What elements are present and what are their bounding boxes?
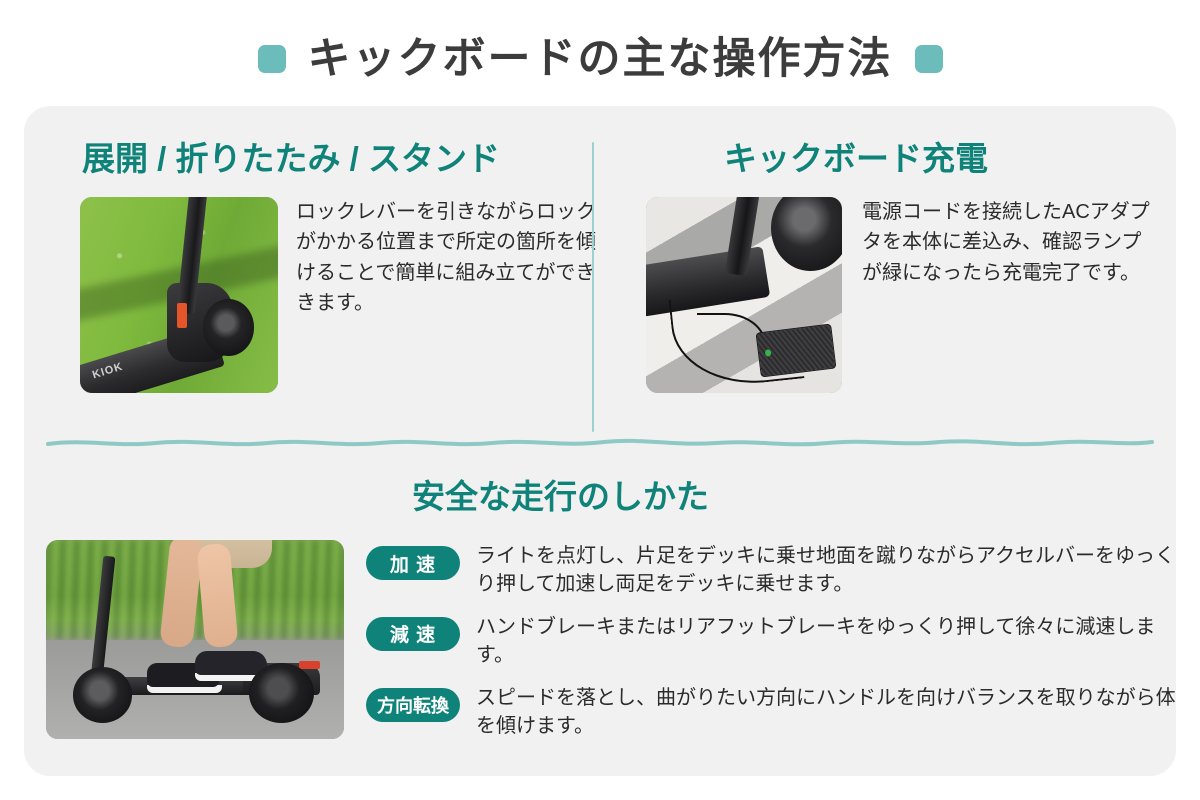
content-card: 展開 / 折りたたみ / スタンド KIOK ロックレバーを引きながらロックがか…: [24, 106, 1176, 776]
section-fold: 展開 / 折りたたみ / スタンド KIOK ロックレバーを引きながらロックがか…: [56, 106, 596, 393]
vertical-divider: [592, 142, 594, 432]
rider-shoe-front: [195, 651, 267, 675]
page-title-row: キックボードの主な操作方法: [0, 26, 1200, 92]
scooter-riding-photo: [46, 540, 344, 739]
status-badge-accelerate: 加 速: [366, 546, 460, 580]
safety-step-text-accelerate: ライトを点灯し、片足をデッキに乗せ地面を蹴りながらアクセルバーをゆっくり押して加…: [476, 542, 1176, 599]
lock-lever-icon: [177, 303, 187, 328]
section-safety-body: 加 速 ライトを点灯し、片足をデッキに乗せ地面を蹴りながらアクセルバーをゆっくり…: [46, 540, 1176, 740]
status-badge-decelerate: 減 速: [366, 617, 460, 651]
scooter-rear-wheel: [249, 663, 315, 723]
safety-step-text-turning: スピードを落とし、曲がりたい方向にハンドルを向けバランスを取りながら体を傾けます…: [476, 684, 1176, 741]
square-decoration-left-icon: [258, 45, 286, 73]
charge-lamp-icon: [764, 350, 771, 358]
top-section: 展開 / 折りたたみ / スタンド KIOK ロックレバーを引きながらロックがか…: [24, 106, 1176, 436]
section-safety: 安全な走行のしかた: [24, 450, 1176, 776]
scooter-charging-photo: [646, 197, 842, 393]
section-safety-heading: 安全な走行のしかた: [412, 480, 709, 513]
section-charge-heading: キックボード充電: [724, 142, 1154, 175]
section-fold-text: ロックレバーを引きながらロックがかかる位置まで所定の箇所を傾けることで簡単に組み…: [296, 197, 596, 319]
safety-step-list: 加 速 ライトを点灯し、片足をデッキに乗せ地面を蹴りながらアクセルバーをゆっくり…: [366, 540, 1176, 740]
section-charge-body: 電源コードを接続したACアダプタを本体に差込み、確認ランプが緑になったら充電完了…: [646, 197, 1154, 393]
scooter-front-wheel: [203, 299, 254, 356]
section-fold-heading: 展開 / 折りたたみ / スタンド: [82, 142, 596, 175]
section-charge: キックボード充電 電源コードを接続したACアダプタを本体に差込み、確認ランプが緑: [634, 106, 1154, 393]
status-badge-turning: 方向転換: [366, 688, 460, 722]
section-charge-text: 電源コードを接続したACアダプタを本体に差込み、確認ランプが緑になったら充電完了…: [862, 197, 1154, 288]
square-decoration-right-icon: [915, 45, 943, 73]
scooter-folding-photo: KIOK: [80, 197, 278, 393]
page-title: キックボードの主な操作方法: [308, 38, 893, 81]
list-item: 加 速 ライトを点灯し、片足をデッキに乗せ地面を蹴りながらアクセルバーをゆっくり…: [366, 542, 1176, 599]
wavy-divider: [46, 436, 1154, 450]
list-item: 減 速 ハンドブレーキまたはリアフットブレーキをゆっくり押して徐々に減速します。: [366, 613, 1176, 670]
scooter-front-wheel: [73, 667, 133, 723]
infographic-page: キックボードの主な操作方法 展開 / 折りたたみ / スタンド: [0, 0, 1200, 800]
section-fold-body: KIOK ロックレバーを引きながらロックがかかる位置まで所定の箇所を傾けることで…: [80, 197, 596, 393]
taillight-icon: [299, 661, 320, 669]
safety-step-text-decelerate: ハンドブレーキまたはリアフットブレーキをゆっくり押して徐々に減速します。: [476, 613, 1176, 670]
list-item: 方向転換 スピードを落とし、曲がりたい方向にハンドルを向けバランスを取りながら体…: [366, 684, 1176, 741]
